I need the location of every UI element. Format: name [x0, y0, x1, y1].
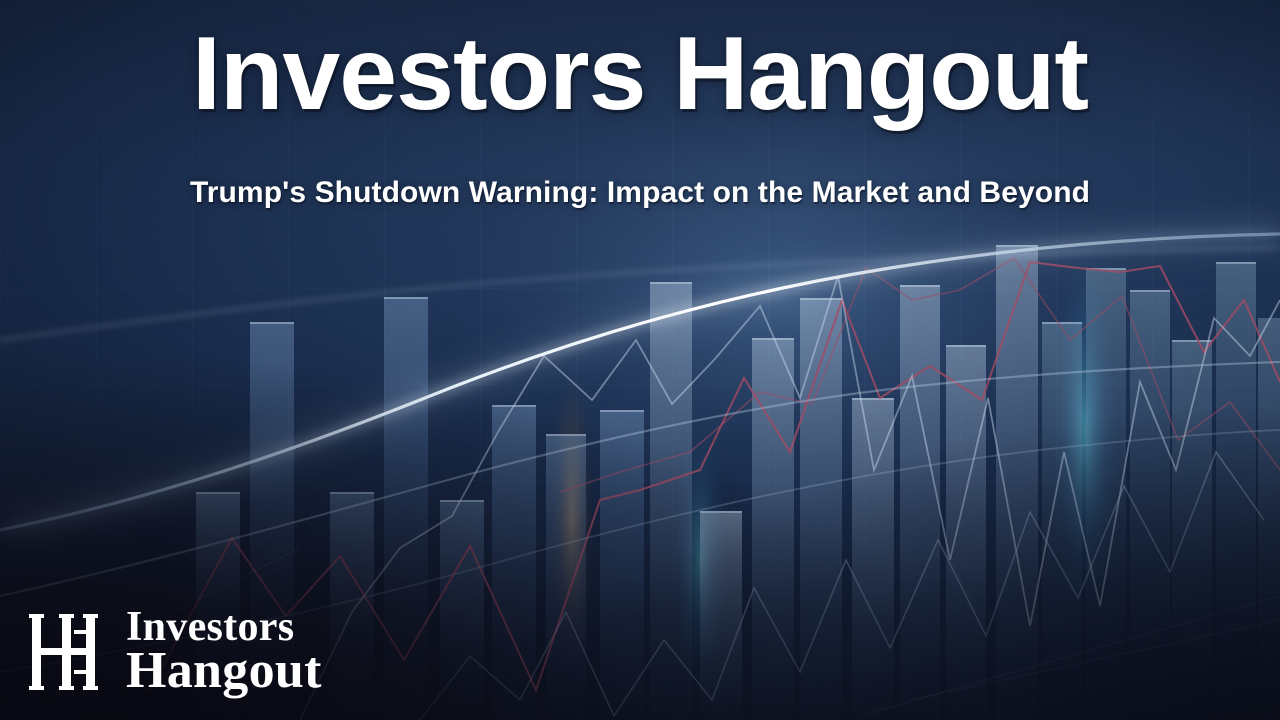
- brand-logo[interactable]: Investors Hangout: [28, 606, 322, 698]
- article-subtitle: Trump's Shutdown Warning: Impact on the …: [0, 176, 1280, 210]
- page-title: Investors Hangout: [0, 18, 1280, 130]
- logo-line-hangout: Hangout: [126, 647, 322, 696]
- ih-monogram-icon: [28, 606, 114, 698]
- logo-wordmark: Investors Hangout: [126, 608, 322, 696]
- hero-banner: Investors Hangout Trump's Shutdown Warni…: [0, 0, 1280, 720]
